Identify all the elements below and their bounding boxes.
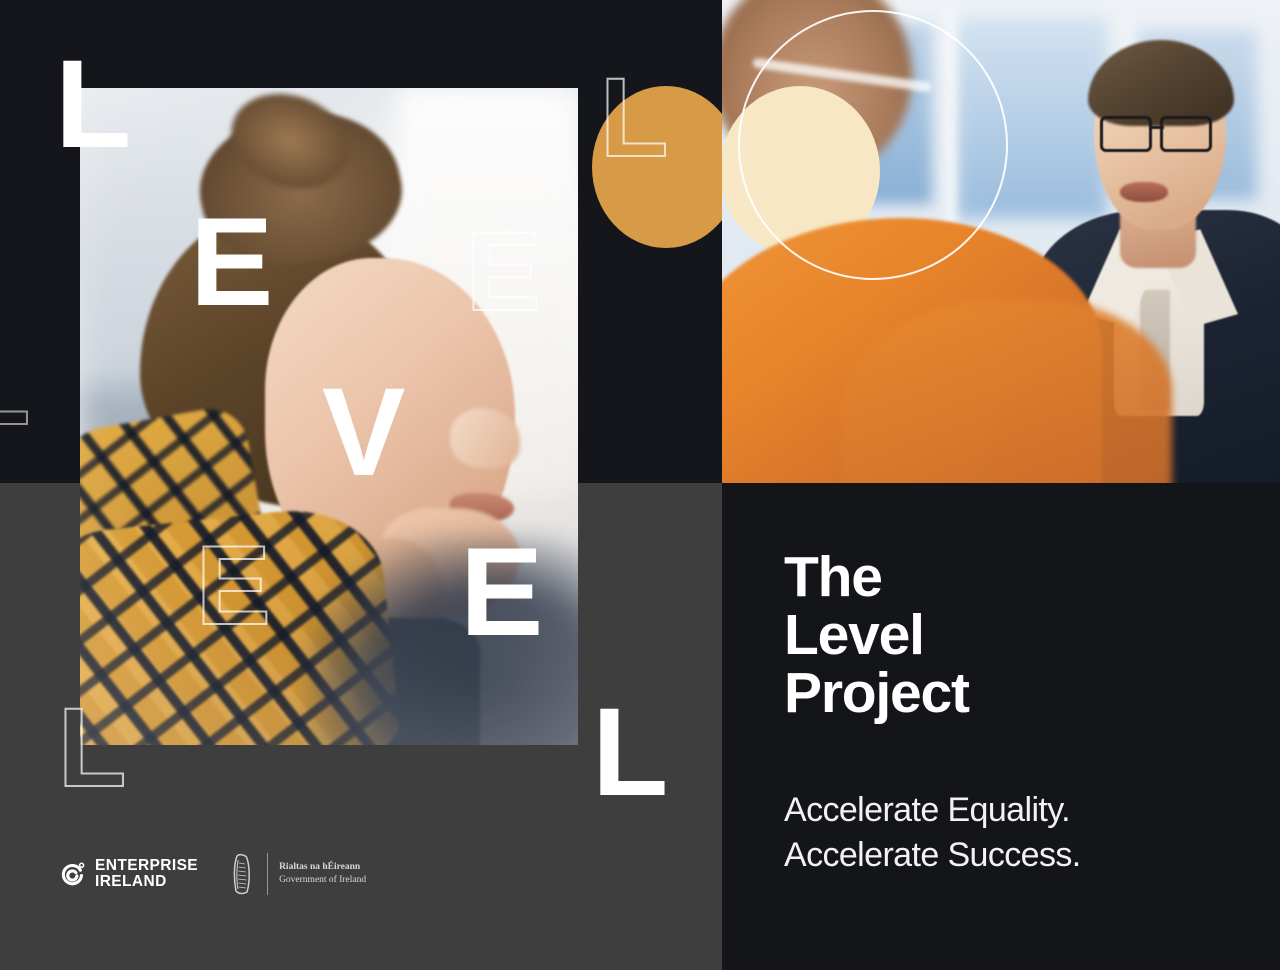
photo-men-glasses-right-lens — [1160, 116, 1212, 152]
enterprise-ireland-line-1: ENTERPRISE — [95, 858, 198, 874]
logo-bar: ENTERPRISE IRELAND — [60, 852, 366, 896]
left-panel: L E V E L L E E L L ENTERPRISE — [0, 0, 722, 970]
tagline: Accelerate Equality. Accelerate Success. — [784, 788, 1081, 878]
page-title-line-2: Level — [784, 606, 969, 664]
page-title: The Level Project — [784, 548, 969, 722]
level-outline-letter-l-top-right: L — [600, 62, 668, 174]
level-outline-letter-l-edge: L — [0, 330, 30, 442]
enterprise-ireland-swirl-icon — [60, 861, 86, 887]
government-line-english: Government of Ireland — [279, 874, 366, 887]
level-outline-letter-l-bottom-left: L — [58, 692, 126, 804]
page-title-line-1: The — [784, 548, 969, 606]
tagline-line-1: Accelerate Equality. — [784, 788, 1081, 833]
photo-men-mouth — [1120, 182, 1168, 202]
circle-outline-decoration — [738, 10, 1008, 280]
enterprise-ireland-line-2: IRELAND — [95, 874, 198, 890]
level-letter-v: V — [322, 370, 405, 495]
level-letter-l-1: L — [55, 42, 131, 167]
right-text-panel: The Level Project Accelerate Equality. A… — [722, 483, 1280, 970]
harp-icon — [230, 852, 256, 896]
enterprise-ireland-wordmark: ENTERPRISE IRELAND — [95, 858, 198, 891]
page-title-line-3: Project — [784, 664, 969, 722]
government-logo-divider — [267, 853, 268, 895]
photo-men-glasses-bridge — [1150, 126, 1164, 129]
enterprise-ireland-logo: ENTERPRISE IRELAND — [60, 858, 198, 891]
level-outline-letter-e-top-right: E — [466, 216, 541, 328]
tagline-line-2: Accelerate Success. — [784, 833, 1081, 878]
government-of-ireland-logo: Rialtas na hÉireann Government of Irelan… — [230, 852, 366, 896]
photo-men-glasses-left-lens — [1100, 116, 1152, 152]
level-letter-e-2: E — [460, 530, 543, 655]
government-of-ireland-wordmark: Rialtas na hÉireann Government of Irelan… — [279, 861, 366, 887]
poster-canvas: L E V E L L E E L L ENTERPRISE — [0, 0, 1280, 970]
photo-men-conversation — [722, 0, 1280, 483]
level-outline-letter-e-bottom-left: E — [196, 530, 271, 642]
level-letter-l-2: L — [592, 690, 668, 815]
level-letter-e-1: E — [190, 200, 273, 325]
government-line-irish: Rialtas na hÉireann — [279, 861, 366, 874]
